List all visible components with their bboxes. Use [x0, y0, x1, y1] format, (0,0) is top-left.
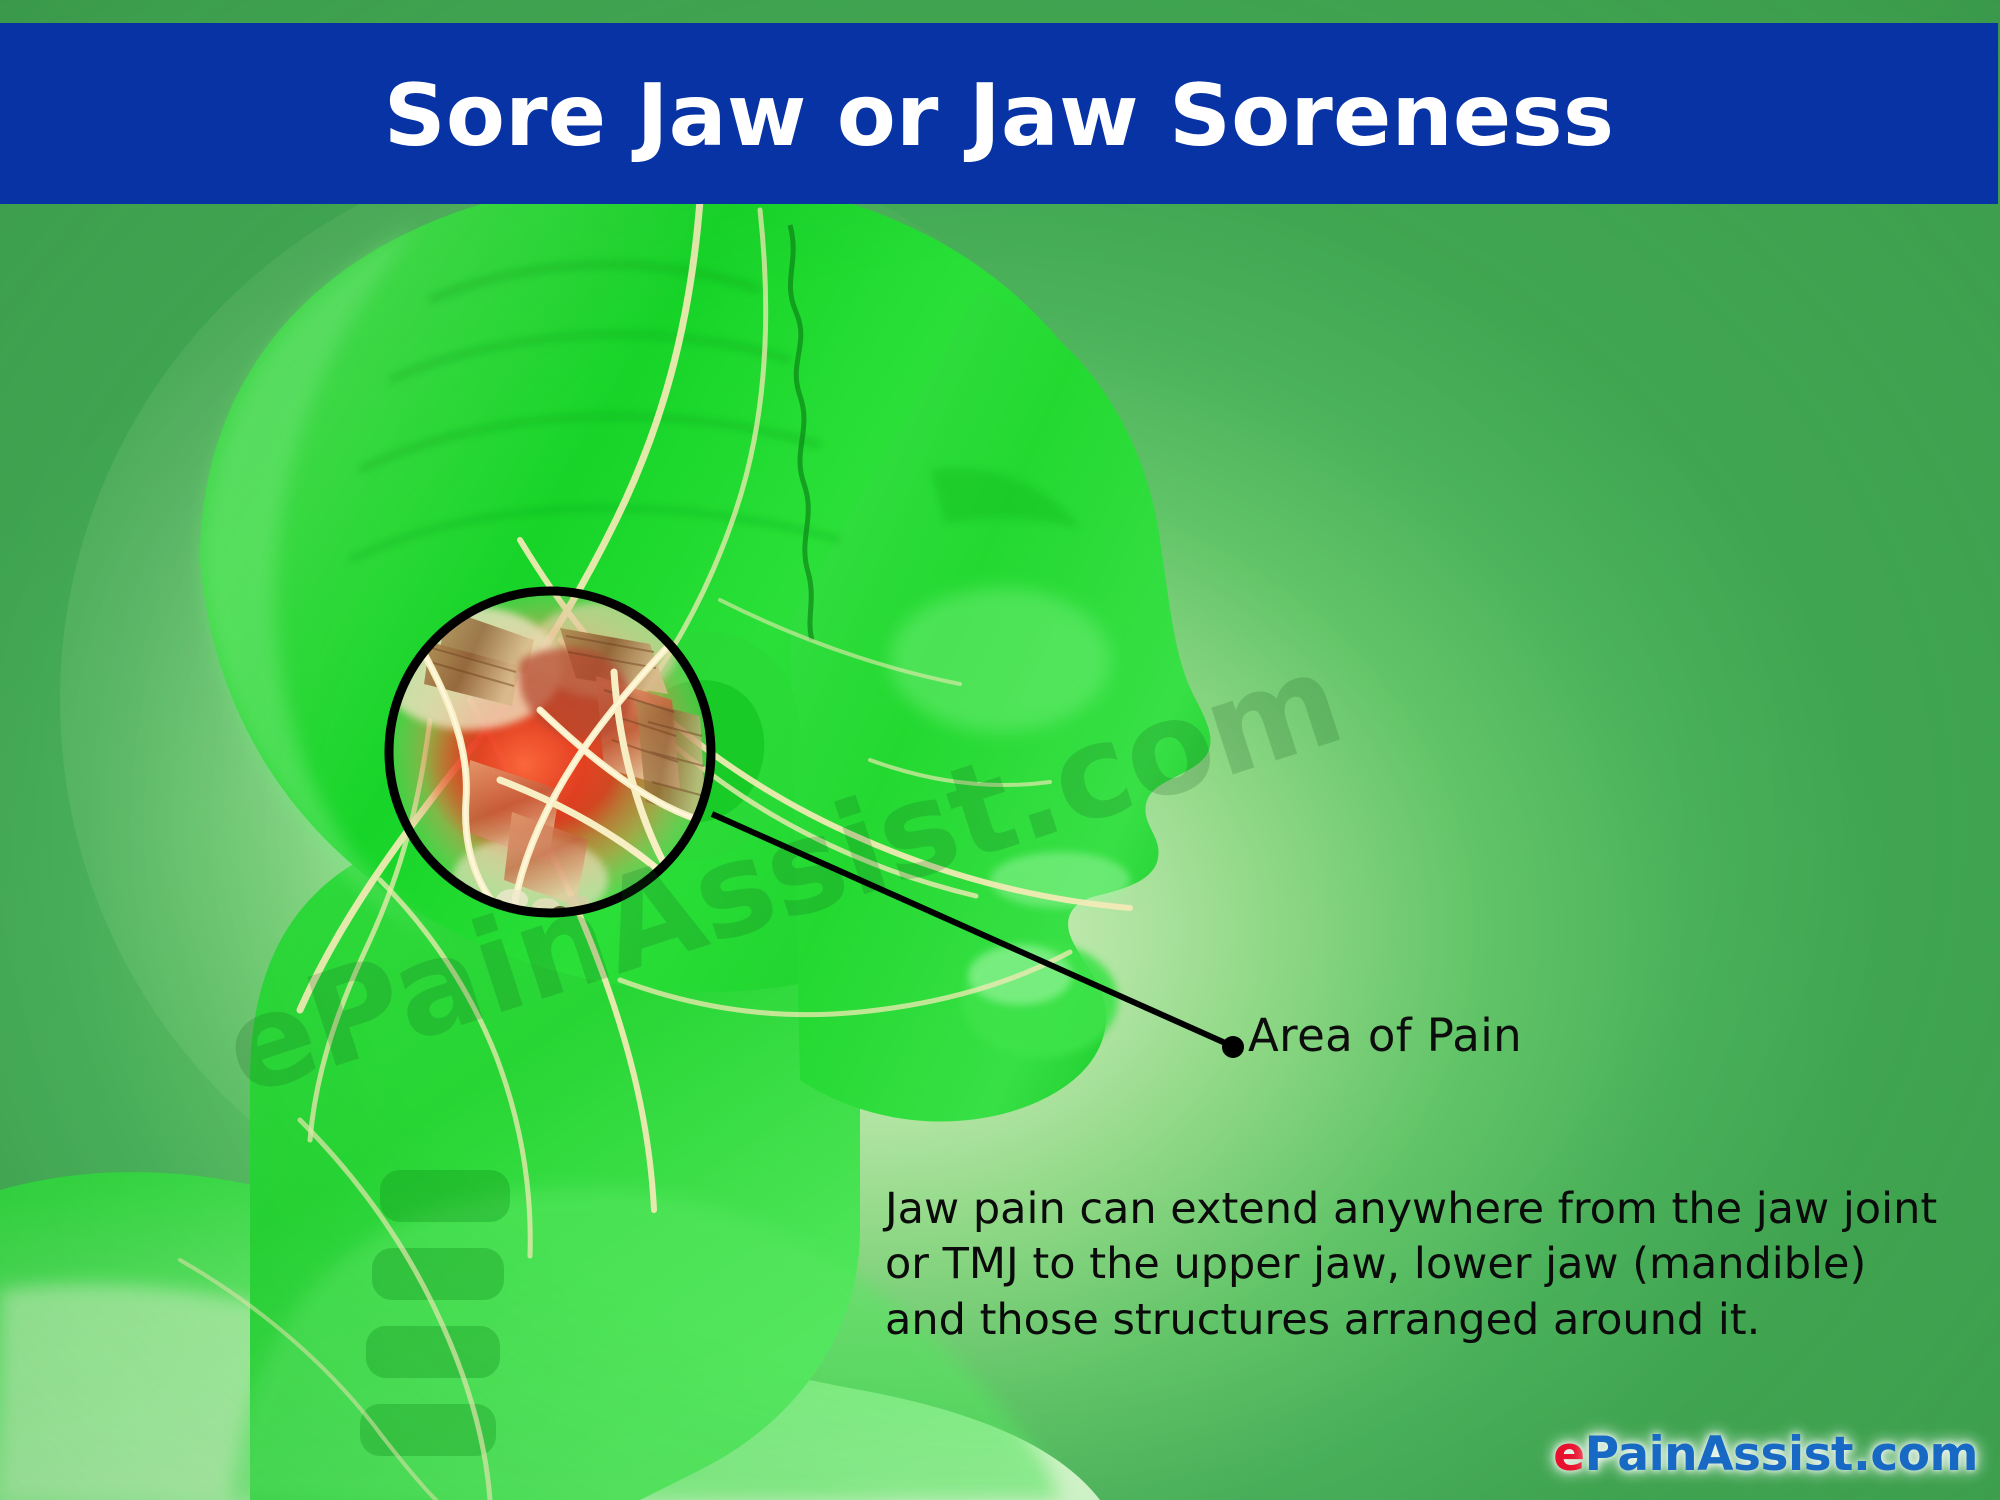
description-line-3: and those structures arranged around it. [885, 1293, 1995, 1348]
description-paragraph: Jaw pain can extend anywhere from the ja… [885, 1182, 1995, 1348]
page-title: Sore Jaw or Jaw Soreness [0, 25, 1998, 206]
epainassist-logo[interactable]: ePainAssist.com [1553, 1427, 1978, 1482]
infographic-page: ePainAssist.com Area of Pain Sore Jaw or… [0, 0, 2000, 1500]
description-line-1: Jaw pain can extend anywhere from the ja… [885, 1182, 1995, 1237]
logo-rest: PainAssist.com [1585, 1427, 1978, 1482]
logo-prefix: e [1553, 1427, 1584, 1482]
callout-label-area-of-pain: Area of Pain [1248, 1009, 1522, 1062]
title-banner: Sore Jaw or Jaw Soreness [0, 23, 1998, 204]
description-line-2: or TMJ to the upper jaw, lower jaw (mand… [885, 1237, 1995, 1292]
